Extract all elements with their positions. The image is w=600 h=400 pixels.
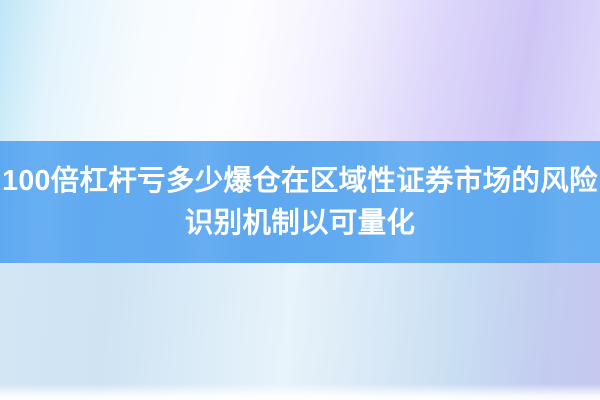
- bottom-gradient-background: [0, 262, 600, 400]
- title-line-2: 识别机制以可量化: [185, 202, 415, 244]
- banner-title: 100倍杠杆亏多少爆仓在区域性证券市场的风险 识别机制以可量化: [0, 141, 600, 263]
- promo-banner: 100倍杠杆亏多少爆仓在区域性证券市场的风险 识别机制以可量化: [0, 0, 600, 400]
- watermark-text: [268, 381, 338, 395]
- top-gradient-background: [0, 0, 600, 142]
- title-line-1: 100倍杠杆亏多少爆仓在区域性证券市场的风险: [2, 160, 598, 202]
